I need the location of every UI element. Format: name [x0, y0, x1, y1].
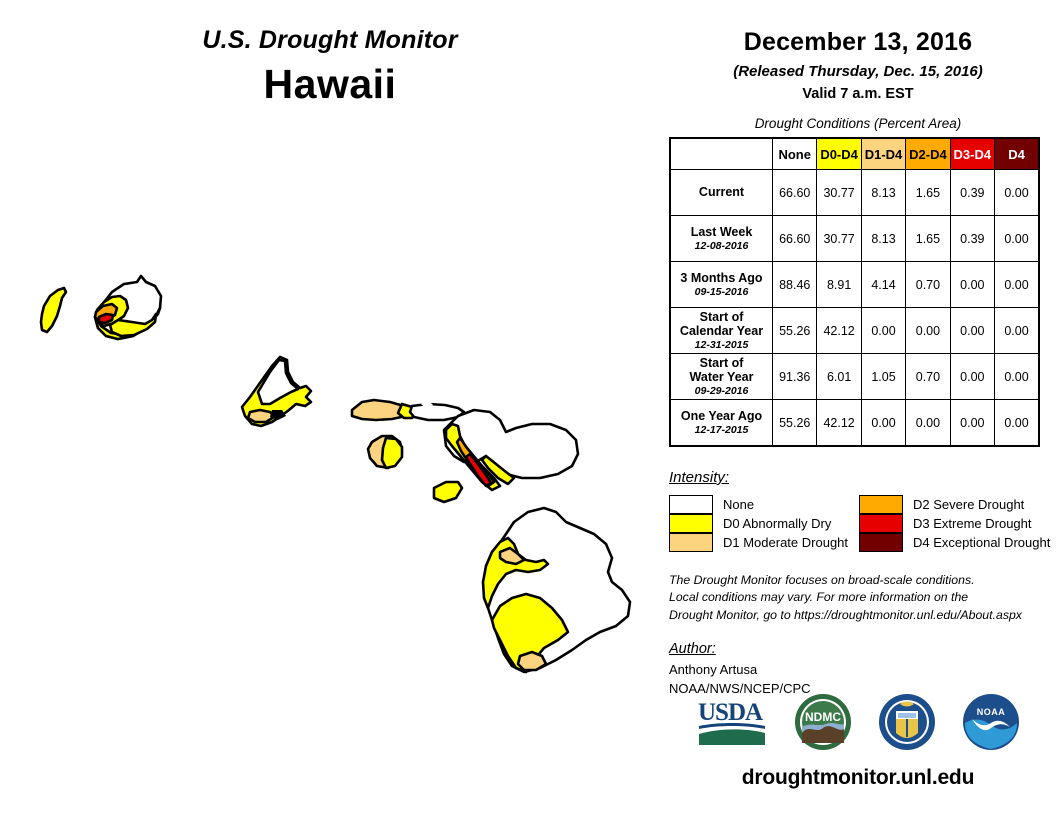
column-header-d4: D4	[995, 138, 1039, 170]
disclaimer-line-1: The Drought Monitor focuses on broad-sca…	[669, 572, 1054, 589]
table-cell-d0d4: 30.77	[817, 216, 861, 262]
table-cell-d4: 0.00	[995, 262, 1039, 308]
table-cell-d3d4: 0.39	[950, 216, 994, 262]
table-cell-none: 55.26	[773, 308, 817, 354]
site-url[interactable]: droughtmonitor.unl.edu	[660, 766, 1056, 790]
row-label-text: Current	[672, 185, 771, 199]
logo-row: USDA NDMC	[660, 688, 1056, 760]
legend-swatch	[859, 533, 903, 552]
table-cell-d2d4: 0.00	[906, 400, 950, 447]
noaa-logo: NOAA	[962, 693, 1020, 756]
island-niihau	[41, 288, 66, 332]
row-label-text: Start of	[672, 310, 771, 324]
intensity-legend: Intensity: NoneD0 Abnormally DryD1 Moder…	[669, 469, 1049, 552]
island-molokai	[352, 400, 464, 420]
island-maui	[444, 410, 578, 490]
table-corner-cell	[670, 138, 773, 170]
drought-conditions-table: None D0-D4 D1-D4 D2-D4 D3-D4 D4 Current6…	[669, 137, 1040, 447]
table-cell-d3d4: 0.00	[950, 354, 994, 400]
row-label-date: 12-08-2016	[672, 240, 771, 252]
row-label: One Year Ago12-17-2015	[670, 400, 773, 447]
legend-swatch	[859, 514, 903, 533]
table-cell-d2d4: 1.65	[906, 170, 950, 216]
legend-swatch	[669, 533, 713, 552]
table-cell-d3d4: 0.39	[950, 170, 994, 216]
legend-item: D3 Extreme Drought	[859, 514, 1049, 533]
table-row: Start ofCalendar Year12-31-201555.2642.1…	[670, 308, 1039, 354]
author-name: Anthony Artusa	[669, 661, 1056, 679]
release-date: (Released Thursday, Dec. 15, 2016)	[660, 63, 1056, 80]
table-cell-d4: 0.00	[995, 400, 1039, 447]
table-cell-d2d4: 1.65	[906, 216, 950, 262]
row-label: Current	[670, 170, 773, 216]
row-label-text: One Year Ago	[672, 409, 771, 423]
legend-title: Intensity:	[669, 469, 1049, 486]
table-cell-none: 66.60	[773, 170, 817, 216]
island-hawaii	[483, 508, 630, 672]
island-kahoolawe	[434, 482, 462, 502]
table-cell-none: 66.60	[773, 216, 817, 262]
legend-column-right: D2 Severe DroughtD3 Extreme DroughtD4 Ex…	[859, 495, 1049, 552]
legend-label: D0 Abnormally Dry	[723, 516, 831, 531]
table-cell-d4: 0.00	[995, 216, 1039, 262]
legend-swatch	[859, 495, 903, 514]
table-cell-d3d4: 0.00	[950, 262, 994, 308]
usdc-seal-logo	[878, 693, 936, 756]
title-line-1: U.S. Drought Monitor	[0, 26, 660, 55]
table-cell-none: 88.46	[773, 262, 817, 308]
row-label-date: 12-31-2015	[672, 339, 771, 351]
table-cell-d4: 0.00	[995, 308, 1039, 354]
legend-swatch	[669, 495, 713, 514]
table-cell-d1d4: 0.00	[861, 400, 905, 447]
table-row: Last Week12-08-201666.6030.778.131.650.3…	[670, 216, 1039, 262]
legend-item: D0 Abnormally Dry	[669, 514, 859, 533]
date-block: December 13, 2016 (Released Thursday, De…	[660, 0, 1056, 102]
title-line-2: Hawaii	[0, 61, 660, 108]
table-header-row: None D0-D4 D1-D4 D2-D4 D3-D4 D4	[670, 138, 1039, 170]
page-title: U.S. Drought Monitor Hawaii	[0, 26, 660, 108]
row-label-date: 09-29-2016	[672, 385, 771, 397]
row-label-date: 12-17-2015	[672, 424, 771, 436]
row-label: Start ofWater Year09-29-2016	[670, 354, 773, 400]
row-label-date: 09-15-2016	[672, 286, 771, 298]
row-label: Last Week12-08-2016	[670, 216, 773, 262]
table-cell-none: 55.26	[773, 400, 817, 447]
table-cell-d1d4: 4.14	[861, 262, 905, 308]
table-cell-d3d4: 0.00	[950, 400, 994, 447]
svg-text:NDMC: NDMC	[805, 710, 841, 724]
ndmc-logo: NDMC	[794, 693, 852, 756]
table-cell-d2d4: 0.00	[906, 308, 950, 354]
svg-text:USDA: USDA	[698, 699, 763, 726]
legend-item: D1 Moderate Drought	[669, 533, 859, 552]
legend-label: D1 Moderate Drought	[723, 535, 848, 550]
table-cell-d0d4: 8.91	[817, 262, 861, 308]
table-row: Current66.6030.778.131.650.390.00	[670, 170, 1039, 216]
column-header-none: None	[773, 138, 817, 170]
legend-label: D2 Severe Drought	[913, 497, 1024, 512]
row-label-text: Last Week	[672, 225, 771, 239]
table-cell-d1d4: 8.13	[861, 170, 905, 216]
table-cell-none: 91.36	[773, 354, 817, 400]
table-cell-d2d4: 0.70	[906, 262, 950, 308]
legend-item: None	[669, 495, 859, 514]
table-cell-d0d4: 30.77	[817, 170, 861, 216]
disclaimer-text: The Drought Monitor focuses on broad-sca…	[669, 572, 1054, 624]
valid-time: Valid 7 a.m. EST	[660, 86, 1056, 102]
table-header: None D0-D4 D1-D4 D2-D4 D3-D4 D4	[670, 138, 1039, 170]
table-cell-d4: 0.00	[995, 170, 1039, 216]
legend-label: D3 Extreme Drought	[913, 516, 1032, 531]
hawaii-drought-map[interactable]	[0, 120, 660, 816]
disclaimer-line-2: Local conditions may vary. For more info…	[669, 589, 1054, 606]
table-cell-d1d4: 1.05	[861, 354, 905, 400]
table-row: Start ofWater Year09-29-201691.366.011.0…	[670, 354, 1039, 400]
author-title: Author:	[669, 641, 1056, 657]
table-cell-d1d4: 8.13	[861, 216, 905, 262]
row-label-text: Water Year	[672, 370, 771, 384]
row-label: 3 Months Ago09-15-2016	[670, 262, 773, 308]
column-header-d0d4: D0-D4	[817, 138, 861, 170]
drought-monitor-page: U.S. Drought Monitor Hawaii	[0, 0, 1056, 816]
table-body: Current66.6030.778.131.650.390.00Last We…	[670, 170, 1039, 447]
disclaimer-line-3: Drought Monitor, go to https://droughtmo…	[669, 607, 1054, 624]
row-label-text: Calendar Year	[672, 324, 771, 338]
row-label-text: Start of	[672, 356, 771, 370]
table-cell-d0d4: 42.12	[817, 308, 861, 354]
table-cell-d0d4: 6.01	[817, 354, 861, 400]
island-lanai	[368, 436, 402, 468]
table-cell-d2d4: 0.70	[906, 354, 950, 400]
island-oahu	[242, 357, 311, 426]
legend-item: D4 Exceptional Drought	[859, 533, 1049, 552]
table-cell-d3d4: 0.00	[950, 308, 994, 354]
legend-swatch	[669, 514, 713, 533]
usda-logo: USDA	[696, 696, 768, 753]
table-cell-d4: 0.00	[995, 354, 1039, 400]
legend-column-left: NoneD0 Abnormally DryD1 Moderate Drought	[669, 495, 859, 552]
table-row: 3 Months Ago09-15-201688.468.914.140.700…	[670, 262, 1039, 308]
row-label-text: 3 Months Ago	[672, 271, 771, 285]
table-cell-d1d4: 0.00	[861, 308, 905, 354]
column-header-d1d4: D1-D4	[861, 138, 905, 170]
report-date: December 13, 2016	[660, 28, 1056, 57]
legend-label: D4 Exceptional Drought	[913, 535, 1050, 550]
right-panel: December 13, 2016 (Released Thursday, De…	[660, 0, 1056, 816]
column-header-d2d4: D2-D4	[906, 138, 950, 170]
column-header-d3d4: D3-D4	[950, 138, 994, 170]
row-label: Start ofCalendar Year12-31-2015	[670, 308, 773, 354]
table-cell-d0d4: 42.12	[817, 400, 861, 447]
island-kauai	[95, 276, 161, 339]
legend-label: None	[723, 497, 754, 512]
legend-item: D2 Severe Drought	[859, 495, 1049, 514]
svg-text:NOAA: NOAA	[977, 707, 1006, 717]
table-caption: Drought Conditions (Percent Area)	[660, 116, 1056, 131]
table-row: One Year Ago12-17-201555.2642.120.000.00…	[670, 400, 1039, 447]
